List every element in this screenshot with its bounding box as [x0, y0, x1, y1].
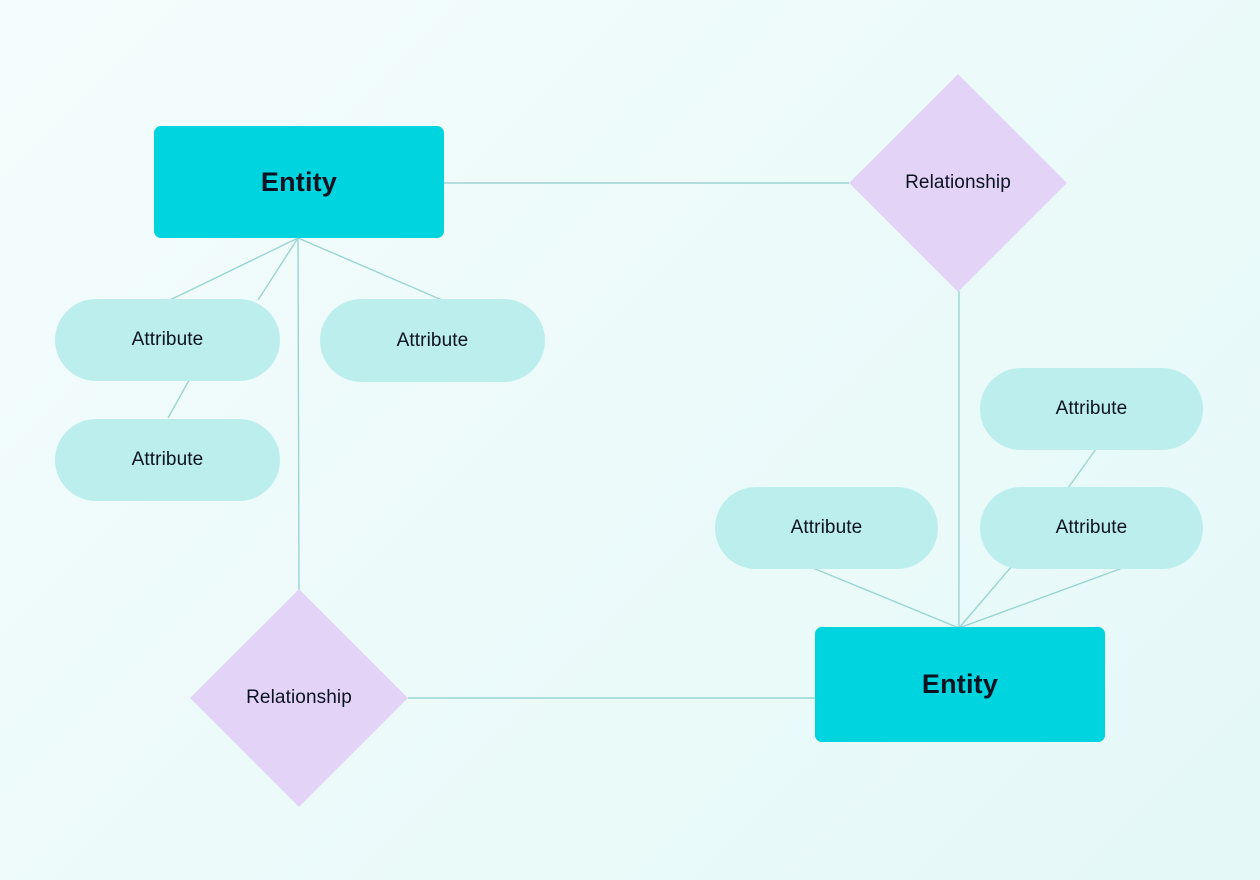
attribute-right-1[interactable]: Attribute	[980, 368, 1203, 450]
attribute-right-1-label: Attribute	[1056, 398, 1128, 420]
relationship-top-right[interactable]: Relationship	[849, 74, 1067, 292]
attribute-mid[interactable]: Attribute	[715, 487, 938, 569]
edge-entity-top-to-attribute-left-1	[170, 238, 298, 300]
edge-entity-top-to-relationship-bottom	[298, 238, 299, 592]
attribute-left-3-label: Attribute	[132, 449, 204, 471]
entity-top-left-label: Entity	[261, 167, 337, 198]
attribute-left-2-label: Attribute	[397, 330, 469, 352]
edge-entity-bottom-to-attribute-mid	[808, 566, 959, 628]
edge-attribute-right-1-to-attribute-right-2	[1068, 449, 1096, 488]
edge-entity-top-to-attribute-mid-left	[298, 238, 442, 300]
entity-bottom-right-label: Entity	[922, 669, 998, 700]
entity-bottom-right[interactable]: Entity	[815, 627, 1105, 742]
edge-attribute-left-1-to-attribute-left-3	[168, 375, 192, 418]
attribute-left-1[interactable]: Attribute	[55, 299, 280, 381]
edge-entity-bottom-to-attribute-right-2	[959, 566, 1012, 628]
attribute-right-2-label: Attribute	[1056, 517, 1128, 539]
edge-entity-bottom-to-attribute-right-2-outer	[959, 566, 1128, 628]
attribute-left-1-label: Attribute	[132, 329, 204, 351]
entity-top-left[interactable]: Entity	[154, 126, 444, 238]
relationship-bottom-left-label: Relationship	[246, 687, 352, 709]
attribute-left-3[interactable]: Attribute	[55, 419, 280, 501]
er-diagram-canvas: Entity Relationship Attribute Attribute …	[0, 0, 1260, 880]
relationship-bottom-left[interactable]: Relationship	[190, 589, 408, 807]
attribute-right-2[interactable]: Attribute	[980, 487, 1203, 569]
edge-entity-top-to-attribute-left-2	[258, 238, 298, 300]
relationship-top-right-label: Relationship	[905, 172, 1011, 194]
attribute-mid-label: Attribute	[791, 517, 863, 539]
attribute-left-2[interactable]: Attribute	[320, 299, 545, 382]
